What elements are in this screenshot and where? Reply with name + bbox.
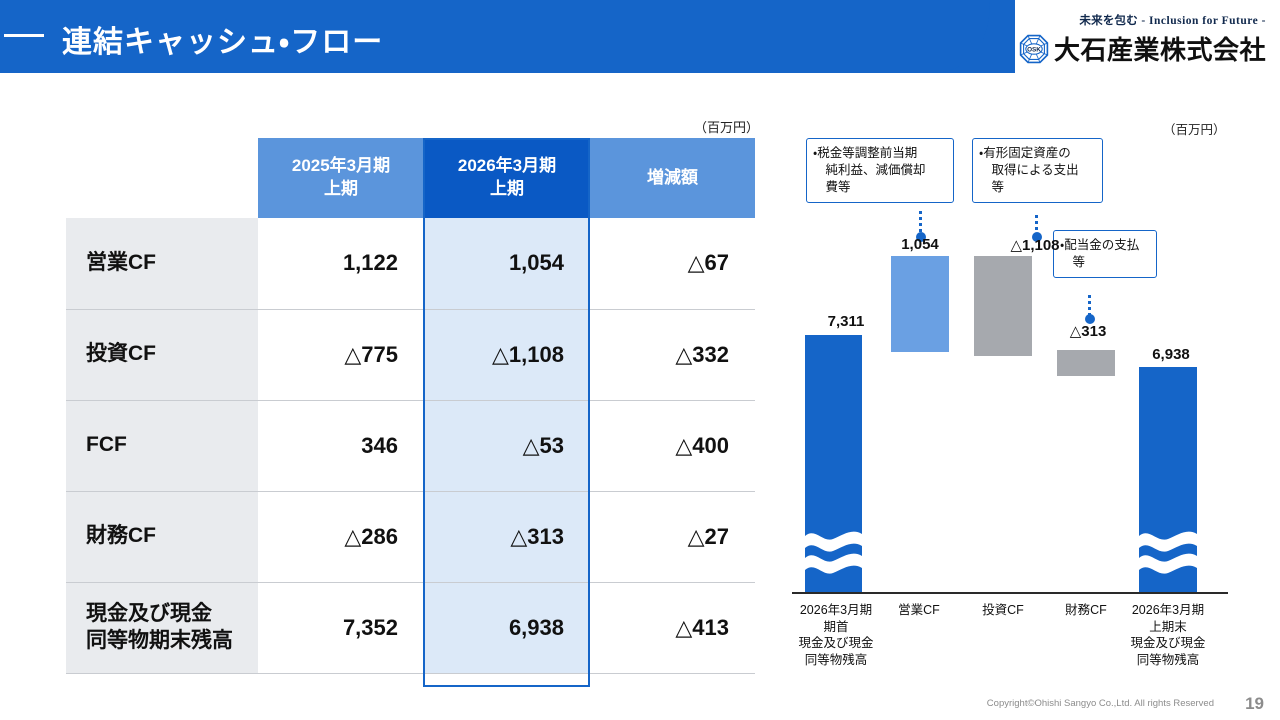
row-prev: 1,122 bbox=[258, 218, 424, 309]
slide: 連結キャッシュ・フロー 未来を包む - Inclusion for Future… bbox=[0, 0, 1280, 720]
row-label: 営業CF bbox=[66, 218, 258, 309]
row-label: 現金及び現金 同等物期末残高 bbox=[66, 582, 258, 673]
table-header-curr: 2026年3月期 上期 bbox=[424, 138, 590, 218]
row-curr: 1,054 bbox=[424, 218, 590, 309]
logo-tagline-jp: 未来を包む bbox=[1079, 15, 1138, 27]
row-diff: △27 bbox=[590, 491, 755, 582]
osk-mark-text: OSK bbox=[1027, 46, 1041, 53]
bar-opening-balance bbox=[805, 335, 862, 592]
row-prev: △775 bbox=[258, 309, 424, 400]
table-header-prev: 2025年3月期 上期 bbox=[258, 138, 424, 218]
row-curr: △53 bbox=[424, 400, 590, 491]
cashflow-table: 2025年3月期 上期 2026年3月期 上期 増減額 営業CF 1,122 1… bbox=[66, 138, 755, 674]
bar-closing-balance bbox=[1139, 367, 1197, 592]
bar-value-label: 1,054 bbox=[870, 236, 970, 253]
chart-axis-line bbox=[792, 592, 1228, 594]
waterfall-chart: ・税金等調整前当期 純利益、減価償却 費等 ・有形固定資産の 取得による支出 等… bbox=[786, 110, 1234, 690]
row-curr: 6,938 bbox=[424, 582, 590, 673]
row-prev: 7,352 bbox=[258, 582, 424, 673]
table-unit-label: （百万円） bbox=[694, 117, 759, 136]
row-curr: △1,108 bbox=[424, 309, 590, 400]
bar-value-label: △1,108 bbox=[985, 236, 1085, 254]
x-label-investing-cf: 投資CF bbox=[958, 602, 1048, 619]
company-logo: 未来を包む - Inclusion for Future - OSK 大石産業株… bbox=[1019, 12, 1266, 67]
table-header-row: 2025年3月期 上期 2026年3月期 上期 増減額 bbox=[66, 138, 755, 218]
chart-x-axis-labels: 2026年3月期 期首 現金及び現金 同等物残高 営業CF 投資CF 財務CF … bbox=[786, 598, 1234, 688]
bar-operating-cf bbox=[891, 256, 949, 352]
table-row: 投資CF △775 △1,108 △332 bbox=[66, 309, 755, 400]
row-label: FCF bbox=[66, 400, 258, 491]
x-label-opening-balance: 2026年3月期 期首 現金及び現金 同等物残高 bbox=[786, 602, 886, 668]
row-diff: △67 bbox=[590, 218, 755, 309]
osk-octagon-icon: OSK bbox=[1019, 34, 1049, 64]
page-number: 19 bbox=[1245, 694, 1264, 714]
row-prev: △286 bbox=[258, 491, 424, 582]
company-name: 大石産業株式会社 bbox=[1054, 30, 1266, 67]
bar-value-label: 7,311 bbox=[796, 313, 896, 330]
row-diff: △332 bbox=[590, 309, 755, 400]
table-row: 財務CF △286 △313 △27 bbox=[66, 491, 755, 582]
x-label-operating-cf: 営業CF bbox=[874, 602, 964, 619]
callout-investing-cf: ・有形固定資産の 取得による支出 等 bbox=[972, 138, 1103, 203]
row-prev: 346 bbox=[258, 400, 424, 491]
table-header-blank bbox=[66, 138, 258, 218]
callout-connector-financing bbox=[1088, 295, 1091, 315]
table-header-change: 増減額 bbox=[590, 138, 755, 218]
bar-value-label: △313 bbox=[1038, 322, 1138, 340]
callout-operating-cf: ・税金等調整前当期 純利益、減価償却 費等 bbox=[806, 138, 954, 203]
table-row: 現金及び現金 同等物期末残高 7,352 6,938 △413 bbox=[66, 582, 755, 673]
x-label-closing-balance: 2026年3月期 上期末 現金及び現金 同等物残高 bbox=[1118, 602, 1218, 668]
callout-connector-investing bbox=[1035, 215, 1038, 233]
callout-connector-operating bbox=[919, 211, 922, 233]
row-label: 投資CF bbox=[66, 309, 258, 400]
row-diff: △413 bbox=[590, 582, 755, 673]
table-row: FCF 346 △53 △400 bbox=[66, 400, 755, 491]
table-row: 営業CF 1,122 1,054 △67 bbox=[66, 218, 755, 309]
bar-investing-cf bbox=[974, 256, 1032, 356]
row-diff: △400 bbox=[590, 400, 755, 491]
title-dash-icon bbox=[4, 34, 44, 37]
logo-tagline: 未来を包む - Inclusion for Future - bbox=[1019, 12, 1266, 28]
bar-value-label: 6,938 bbox=[1121, 346, 1221, 363]
copyright-text: Copyright©Ohishi Sangyo Co.,Ltd. All rig… bbox=[987, 698, 1214, 709]
bar-financing-cf bbox=[1057, 350, 1115, 376]
row-label: 財務CF bbox=[66, 491, 258, 582]
row-curr: △313 bbox=[424, 491, 590, 582]
logo-tagline-en: - Inclusion for Future - bbox=[1141, 15, 1266, 27]
page-title: 連結キャッシュ・フロー bbox=[62, 17, 383, 61]
